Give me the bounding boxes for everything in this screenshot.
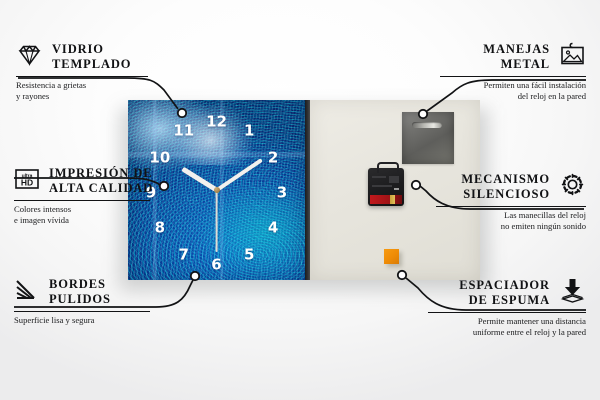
dial-numeral-5: 5 xyxy=(244,247,254,262)
callout-desc-line2: e imagen vívida xyxy=(14,215,156,226)
hanger-plate xyxy=(402,112,454,164)
callout-desc-line1: Colores intensos xyxy=(14,204,156,215)
callout-title: IMPRESIÓN DE ALTA CALIDAD xyxy=(49,166,153,197)
callout-desc-line1: Permite mantener una distancia xyxy=(428,316,586,327)
callout-title: ESPACIADOR DE ESPUMA xyxy=(459,278,550,309)
callout-rule xyxy=(440,76,586,78)
dial-numeral-10: 10 xyxy=(149,150,170,165)
mechanism-detail xyxy=(389,176,399,183)
callout-title-line1: IMPRESIÓN DE xyxy=(49,166,153,181)
dial-numeral-7: 7 xyxy=(179,247,189,262)
callout-desc-line2: uniforme entre el reloj y la pared xyxy=(428,327,586,338)
diagonal-lines-icon xyxy=(14,278,40,307)
callout-impresion-alta-calidad: ultra HD IMPRESIÓN DE ALTA CALIDAD Color… xyxy=(14,166,156,227)
callout-bordes-pulidos: BORDES PULIDOS Superficie lisa y segura xyxy=(14,277,156,326)
callout-rule xyxy=(436,206,586,208)
dial-numeral-8: 8 xyxy=(155,220,165,235)
callout-title-line1: BORDES xyxy=(49,277,111,292)
dial-numeral-3: 3 xyxy=(277,185,287,200)
callout-title-line1: ESPACIADOR xyxy=(459,278,550,293)
callout-espaciador-de-espuma: ESPACIADOR DE ESPUMA Permite mantener un… xyxy=(428,278,586,339)
hanger-slot xyxy=(412,122,442,128)
gear-icon xyxy=(559,172,586,202)
mechanism-detail xyxy=(394,188,399,190)
callout-title: MECANISMO SILENCIOSO xyxy=(461,172,550,203)
callout-desc-line2: no emiten ningún sonido xyxy=(436,221,586,232)
callout-title-line2: PULIDOS xyxy=(49,292,111,307)
dial-numeral-4: 4 xyxy=(268,220,278,235)
dial-numeral-2: 2 xyxy=(268,150,278,165)
callout-rule xyxy=(16,76,148,78)
callout-title-line1: MECANISMO xyxy=(461,172,550,187)
callout-title: VIDRIO TEMPLADO xyxy=(52,42,131,73)
callout-title-line2: ALTA CALIDAD xyxy=(49,181,153,196)
callout-title-line2: METAL xyxy=(483,57,550,72)
clock-center-cap xyxy=(214,187,220,193)
callout-desc-line1: Las manecillas del reloj xyxy=(436,210,586,221)
callout-vidrio-templado: VIDRIO TEMPLADO Resistencia a grietas y … xyxy=(16,42,156,103)
battery-label xyxy=(370,195,402,204)
callout-desc-line1: Resistencia a grietas xyxy=(16,80,156,91)
diamond-icon xyxy=(16,43,43,72)
callout-desc-line2: y rayones xyxy=(16,91,156,102)
mechanism-detail xyxy=(372,185,392,187)
clock-mechanism xyxy=(368,168,404,206)
mechanism-detail xyxy=(372,176,386,178)
down-arrow-layers-icon xyxy=(559,278,586,308)
dial-numeral-11: 11 xyxy=(173,123,194,138)
callout-desc-line1: Permiten una fácil instalación xyxy=(440,80,586,91)
callout-desc-line2: del reloj en la pared xyxy=(440,91,586,102)
callout-title-line2: TEMPLADO xyxy=(52,57,131,72)
dial-numeral-12: 12 xyxy=(206,114,227,129)
product-infographic: 12 1 2 3 4 5 6 7 8 9 10 11 xyxy=(0,0,600,400)
callout-rule xyxy=(428,312,586,314)
clock-second-hand xyxy=(216,190,218,252)
callout-title-line1: MANEJAS xyxy=(483,42,550,57)
foam-spacer xyxy=(384,249,399,264)
callout-manejas-metal: MANEJAS METAL Permiten una fácil instala… xyxy=(440,42,586,103)
ultra-hd-big-label: HD xyxy=(21,177,33,187)
callout-title-line1: VIDRIO xyxy=(52,42,131,57)
callout-title: BORDES PULIDOS xyxy=(49,277,111,308)
callout-desc-line1: Superficie lisa y segura xyxy=(14,315,156,326)
callout-title-line2: DE ESPUMA xyxy=(459,293,550,308)
picture-frame-hanger-icon xyxy=(559,42,586,72)
ultra-hd-icon: ultra HD xyxy=(14,167,40,196)
product-photo: 12 1 2 3 4 5 6 7 8 9 10 11 xyxy=(128,100,480,280)
mechanism-handle xyxy=(377,162,399,173)
callout-title: MANEJAS METAL xyxy=(483,42,550,73)
callout-rule xyxy=(14,200,150,202)
dial-numeral-1: 1 xyxy=(244,123,254,138)
callout-title-line2: SILENCIOSO xyxy=(461,187,550,202)
callout-mecanismo-silencioso: MECANISMO SILENCIOSO Las manecillas del … xyxy=(436,172,586,233)
dial-numeral-6: 6 xyxy=(211,257,221,272)
callout-rule xyxy=(14,311,150,313)
